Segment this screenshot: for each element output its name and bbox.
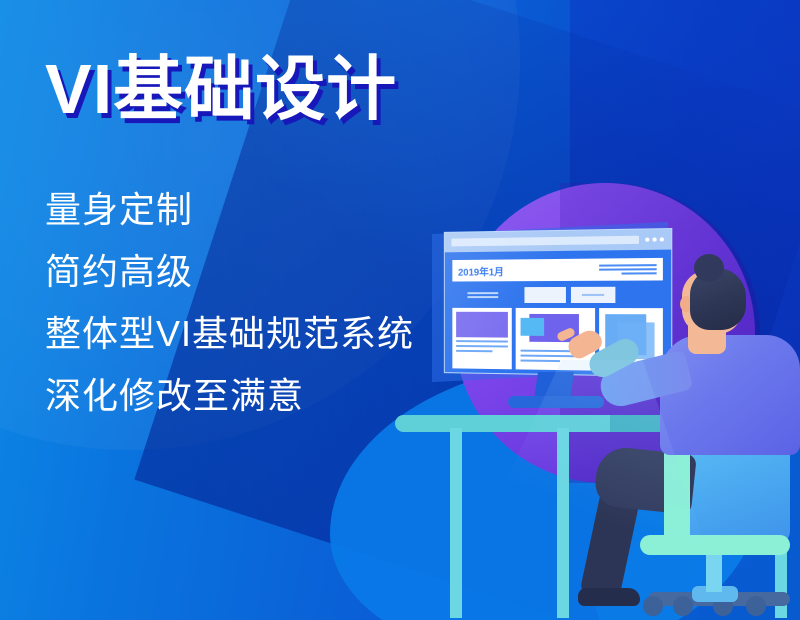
toolbar-block-1 [524, 287, 565, 303]
screen-address-lines [510, 264, 657, 275]
screen-toolbar-row [452, 287, 663, 303]
chrome-title-bar [451, 236, 639, 247]
feature-item-1: 量身定制 [45, 192, 414, 228]
toolbar-block-2 [571, 287, 615, 303]
window-dots-icon [645, 237, 664, 241]
chair-wheel [643, 596, 663, 616]
vi-design-promo-banner: 2019年1月 [0, 0, 800, 620]
screen-address-row: 2019年1月 [452, 258, 663, 282]
browser-chrome-bar [445, 229, 671, 252]
feature-list: 量身定制 简约高级 整体型VI基础规范系统 深化修改至满意 [45, 192, 414, 414]
chair-wheel [746, 596, 766, 616]
page-title: VI基础设计 [45, 54, 397, 124]
person-hair-bun [694, 254, 724, 282]
desk-leg-middle [557, 428, 569, 618]
person-shoe [578, 588, 640, 606]
chair-wheel [673, 596, 693, 616]
desk-leg-left [450, 428, 462, 618]
monitor-foot [508, 396, 604, 408]
chair-seat [640, 535, 790, 555]
feature-item-2: 简约高级 [45, 254, 414, 290]
toolbar-lines [452, 287, 519, 303]
screen-card-1 [452, 308, 511, 369]
feature-item-4: 深化修改至满意 [45, 378, 414, 414]
screen-date-label: 2019年1月 [458, 263, 504, 278]
feature-item-3: 整体型VI基础规范系统 [45, 316, 414, 352]
